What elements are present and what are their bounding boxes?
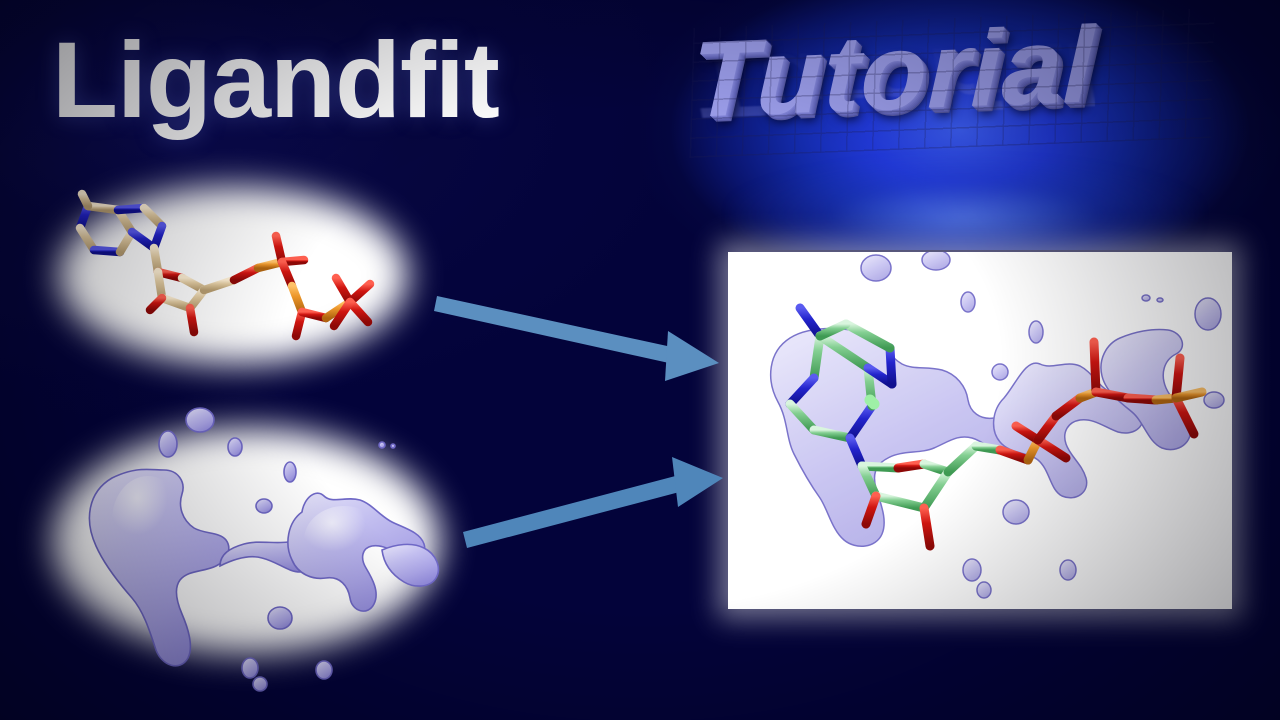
background-vignette [0,0,1280,720]
slide-root: Tutorial Tutorial Ligandfit [0,0,1280,720]
